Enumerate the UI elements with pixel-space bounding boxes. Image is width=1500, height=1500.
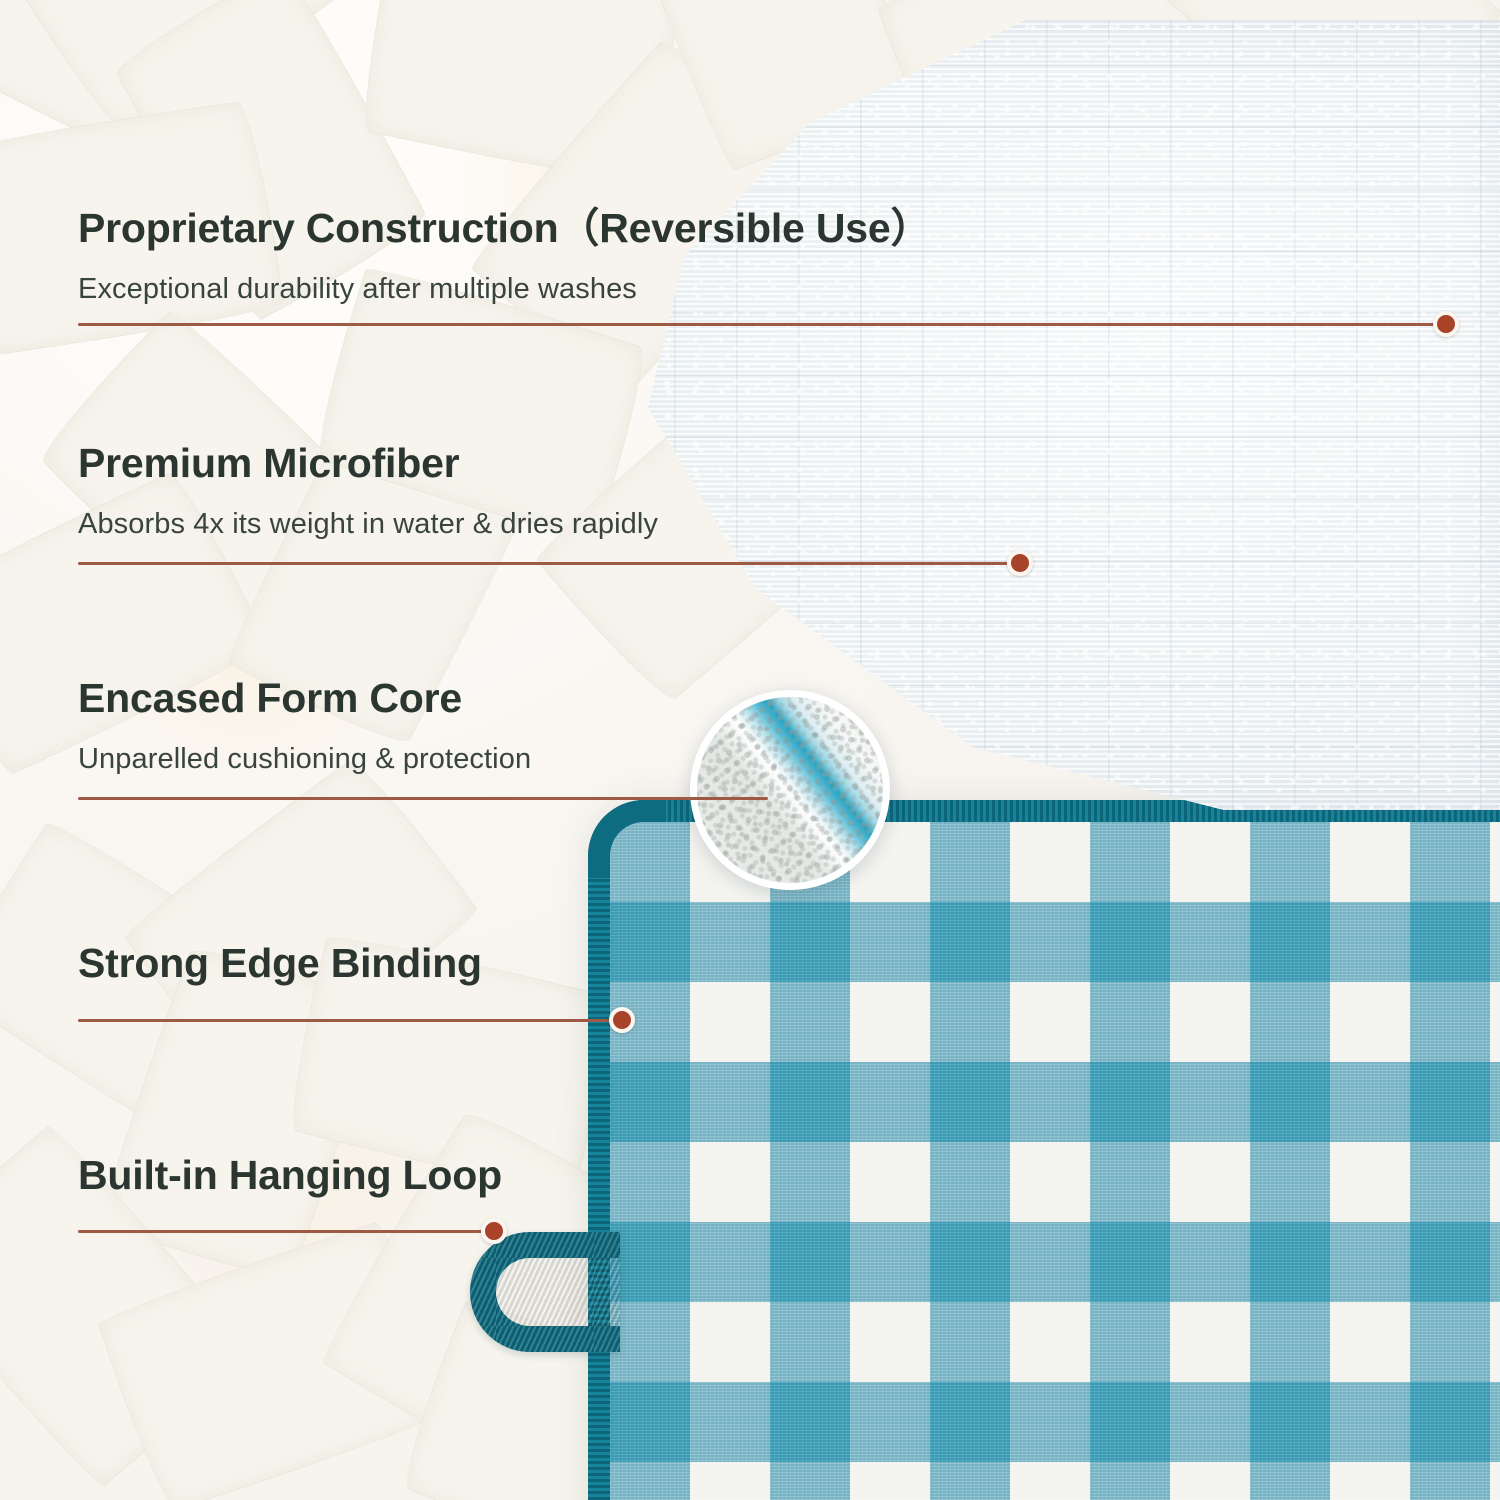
foam-texture <box>690 690 890 890</box>
feature-title: Proprietary Construction（Reversible Use） <box>78 208 931 249</box>
feature-title: Strong Edge Binding <box>78 943 482 984</box>
callout-dot-built-in-hanging-loop <box>481 1218 507 1244</box>
feature-title: Built-in Hanging Loop <box>78 1155 502 1196</box>
callout-dot-premium-microfiber <box>1007 550 1033 576</box>
feature-strong-edge-binding: Strong Edge Binding <box>78 943 482 984</box>
leader-line-strong-edge-binding <box>78 1019 616 1022</box>
leader-line-proprietary-construction <box>78 323 1446 326</box>
loop-webbing-strap <box>470 1232 620 1352</box>
foam-core-magnifier <box>690 690 890 890</box>
feature-proprietary-construction: Proprietary Construction（Reversible Use）… <box>78 208 931 304</box>
feature-subtitle: Exceptional durability after multiple wa… <box>78 275 931 304</box>
fabric-weave-texture <box>610 822 1500 1500</box>
callout-dot-strong-edge-binding <box>609 1007 635 1033</box>
feature-encased-form-core: Encased Form Core Unparelled cushioning … <box>78 678 531 774</box>
callout-dot-proprietary-construction <box>1433 311 1459 337</box>
feature-subtitle: Unparelled cushioning & protection <box>78 745 531 774</box>
folded-microfiber-flap <box>612 20 1500 810</box>
gingham-check-fabric <box>610 822 1500 1500</box>
leader-line-built-in-hanging-loop <box>78 1230 488 1233</box>
feature-subtitle: Absorbs 4x its weight in water & dries r… <box>78 510 658 539</box>
gingham-towel-body <box>588 800 1500 1500</box>
feature-built-in-hanging-loop: Built-in Hanging Loop <box>78 1155 502 1196</box>
terry-fuzz-texture <box>612 20 1500 810</box>
leader-line-premium-microfiber <box>78 562 1026 565</box>
edge-binding-left <box>588 856 610 1500</box>
hanging-loop <box>470 1232 620 1352</box>
feature-title: Premium Microfiber <box>78 443 658 484</box>
feature-title: Encased Form Core <box>78 678 531 719</box>
feature-premium-microfiber: Premium Microfiber Absorbs 4x its weight… <box>78 443 658 539</box>
infographic-canvas: Proprietary Construction（Reversible Use）… <box>0 0 1500 1500</box>
leader-line-encased-form-core <box>78 797 768 800</box>
